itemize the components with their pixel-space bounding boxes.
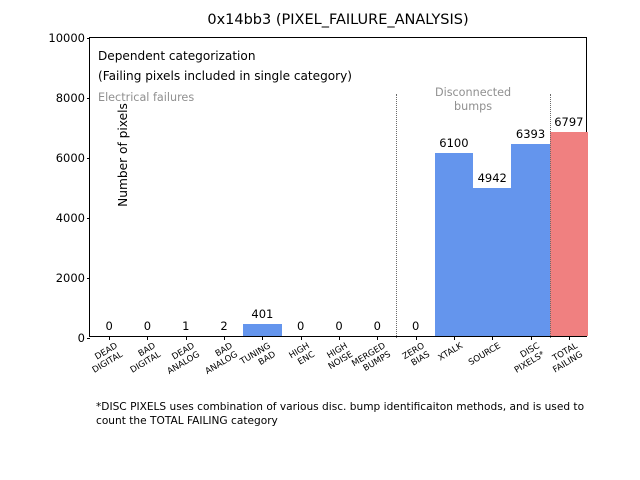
y-tick-mark bbox=[87, 218, 91, 219]
section-divider bbox=[396, 94, 397, 338]
x-tick-label: TOTALFAILING bbox=[547, 342, 585, 376]
y-tick-label: 8000 bbox=[56, 91, 85, 105]
y-tick-mark bbox=[87, 38, 91, 39]
bar bbox=[550, 132, 588, 336]
bar-value-label: 0 bbox=[105, 319, 112, 333]
y-tick-label: 10000 bbox=[48, 31, 85, 45]
chart-title: 0x14bb3 (PIXEL_FAILURE_ANALYSIS) bbox=[89, 12, 587, 28]
bar-value-label: 401 bbox=[251, 307, 273, 321]
x-tick-label: SOURCE bbox=[468, 342, 503, 369]
y-tick-mark bbox=[87, 98, 91, 99]
x-tick-mark bbox=[492, 336, 493, 340]
x-tick-mark bbox=[339, 336, 340, 340]
chart-footnote: *DISC PIXELS uses combination of various… bbox=[96, 401, 616, 429]
y-axis-label: Number of pixels bbox=[116, 55, 130, 255]
x-tick-label: DEADDIGITAL bbox=[86, 342, 125, 376]
y-tick-label: 6000 bbox=[56, 151, 85, 165]
bar-value-label: 1 bbox=[182, 319, 189, 333]
x-tick-mark bbox=[224, 336, 225, 340]
x-tick-label: XTALK bbox=[437, 342, 465, 364]
bar-value-label: 6797 bbox=[554, 115, 583, 129]
section-label-disconnected-bumps: Disconnected bumps bbox=[396, 86, 549, 115]
bar-value-label: 0 bbox=[297, 319, 304, 333]
y-tick-label: 0 bbox=[78, 331, 85, 345]
caption-failing-pixels-note: (Failing pixels included in single categ… bbox=[98, 69, 352, 83]
x-tick-label: BADANALOG bbox=[199, 342, 240, 377]
x-tick-label: BADDIGITAL bbox=[125, 342, 164, 376]
plot-area: Number of pixels 0200040006000800010000 … bbox=[89, 37, 587, 337]
x-tick-mark bbox=[454, 336, 455, 340]
x-tick-label: HIGHNOISE bbox=[322, 342, 355, 372]
x-tick-label: DISCPIXELS* bbox=[508, 342, 547, 376]
x-tick-mark bbox=[531, 336, 532, 340]
x-tick-label: ZEROBIAS bbox=[401, 342, 432, 371]
bar-value-label: 0 bbox=[335, 319, 342, 333]
x-tick-label: TUNINGBAD bbox=[240, 342, 279, 376]
x-tick-label: HIGHENC bbox=[288, 342, 317, 370]
y-tick-mark bbox=[87, 278, 91, 279]
x-tick-mark bbox=[569, 336, 570, 340]
bar-value-label: 0 bbox=[412, 319, 419, 333]
y-tick-label: 4000 bbox=[56, 211, 85, 225]
pixel-failure-analysis-chart: 0x14bb3 (PIXEL_FAILURE_ANALYSIS) Number … bbox=[0, 0, 640, 480]
y-tick-mark bbox=[87, 338, 91, 339]
bar bbox=[511, 144, 549, 336]
y-tick-mark bbox=[87, 158, 91, 159]
x-tick-label: DEADANALOG bbox=[161, 342, 202, 377]
bar bbox=[243, 324, 281, 336]
bar-value-label: 6100 bbox=[439, 136, 468, 150]
x-tick-mark bbox=[147, 336, 148, 340]
section-divider bbox=[550, 94, 551, 338]
bar-value-label: 4942 bbox=[478, 171, 507, 185]
x-tick-mark bbox=[186, 336, 187, 340]
x-tick-mark bbox=[416, 336, 417, 340]
x-tick-mark bbox=[377, 336, 378, 340]
y-tick-label: 2000 bbox=[56, 271, 85, 285]
bar-value-label: 0 bbox=[374, 319, 381, 333]
x-tick-mark bbox=[262, 336, 263, 340]
section-label-electrical-failures: Electrical failures bbox=[98, 91, 194, 105]
bar-value-label: 0 bbox=[144, 319, 151, 333]
x-tick-mark bbox=[301, 336, 302, 340]
x-tick-mark bbox=[109, 336, 110, 340]
bar-value-label: 2 bbox=[220, 319, 227, 333]
bar bbox=[473, 188, 511, 336]
bar bbox=[435, 153, 473, 336]
bar-value-label: 6393 bbox=[516, 127, 545, 141]
caption-dependent-categorization: Dependent categorization bbox=[98, 49, 255, 63]
x-tick-label: MERGEDBUMPS bbox=[351, 342, 393, 378]
